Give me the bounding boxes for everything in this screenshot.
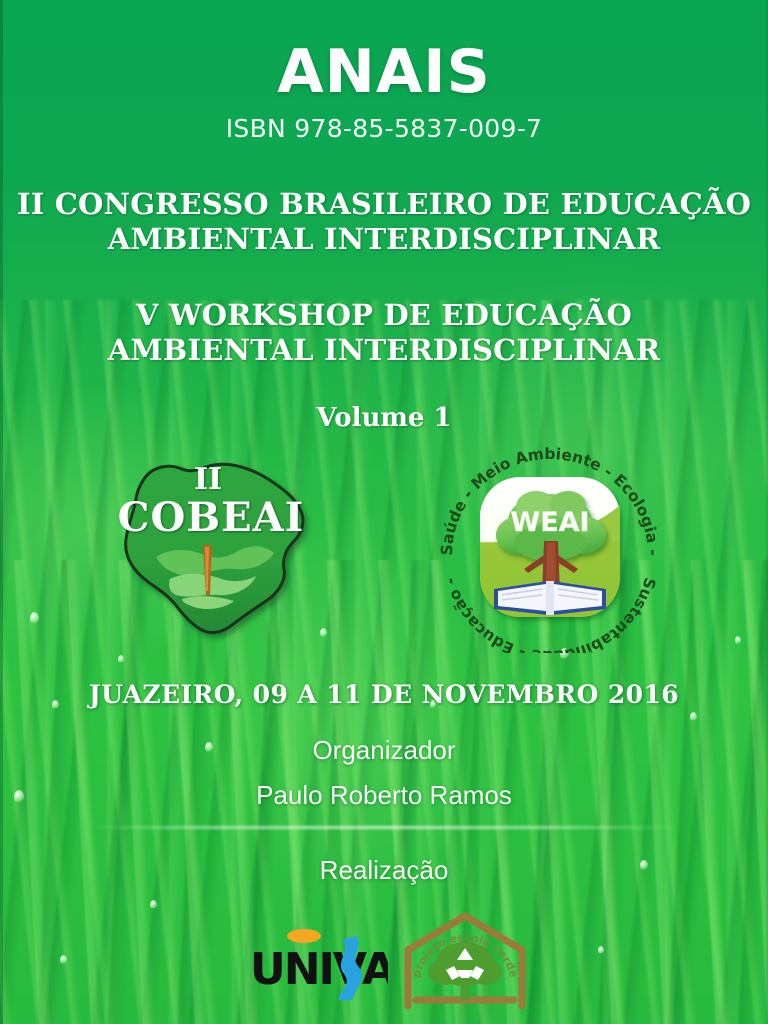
univasf-text: UNIVASF [250,944,388,995]
isbn-line: ISBN 978-85-5837-009-7 [0,114,768,143]
event-primary-line2: AMBIENTAL INTERDISCIPLINAR [0,222,768,257]
event-primary-line1: II CONGRESSO BRASILEIRO DE EDUCAÇÃO [0,187,768,222]
escola-verde-logo: projeto escola verde [402,910,528,1014]
volume-label: Volume 1 [0,403,768,433]
weai-logo: Saúde - Meio Ambiente - Ecologia - Suste… [432,443,668,653]
event-secondary-line2: AMBIENTAL INTERDISCIPLINAR [0,333,768,368]
organizer-name: Paulo Roberto Ramos [0,780,768,811]
univasf-sun-icon [287,929,321,943]
event-secondary-line1: V WORKSHOP DE EDUCAÇÃO [0,298,768,333]
univasf-logo: UNIVASF [246,922,388,1002]
weai-acronym: WEAI [510,507,589,538]
section-divider [88,826,680,829]
escola-verde-icon: projeto escola verde [402,910,528,1014]
event-secondary-title: V WORKSHOP DE EDUCAÇÃO AMBIENTAL INTERDI… [0,298,768,369]
univasf-wordmark-icon: UNIVASF [246,922,388,1002]
sponsor-logo-row: UNIVASF [0,908,768,1024]
anais-cover-page: ANAIS ISBN 978-85-5837-009-7 II CONGRESS… [0,0,768,1024]
weai-badge-icon: Saúde - Meio Ambiente - Ecologia - Suste… [432,443,668,653]
date-location-line: JUAZEIRO, 09 A 11 DE NOVEMBRO 2016 [0,680,768,709]
brazil-map-icon [86,449,336,644]
realizacao-label: Realização [0,855,768,886]
page-title: ANAIS [0,0,768,102]
cobeai-logo: II COBEAI [86,449,336,644]
organizer-label: Organizador [0,735,768,766]
event-primary-title: II CONGRESSO BRASILEIRO DE EDUCAÇÃO AMBI… [0,187,768,258]
logo-row: II COBEAI [0,439,768,654]
cover-content: ANAIS ISBN 978-85-5837-009-7 II CONGRESS… [0,0,768,1024]
